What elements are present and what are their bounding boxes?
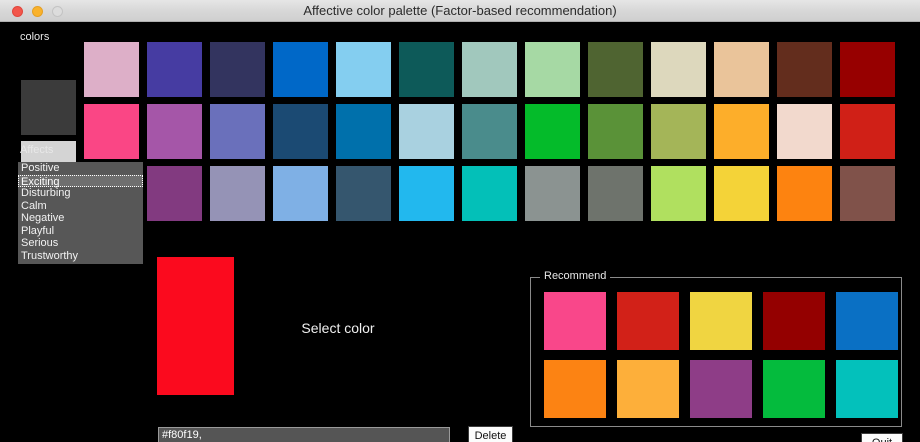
recommend-swatch[interactable] xyxy=(617,360,679,418)
color-swatch[interactable] xyxy=(462,166,517,221)
color-swatch[interactable] xyxy=(588,104,643,159)
affect-item-calm[interactable]: Calm xyxy=(18,200,143,213)
recommend-swatch[interactable] xyxy=(544,292,606,350)
color-swatch[interactable] xyxy=(840,42,895,97)
color-swatch[interactable] xyxy=(210,166,265,221)
color-swatch[interactable] xyxy=(273,104,328,159)
color-swatch[interactable] xyxy=(588,42,643,97)
recommend-swatch[interactable] xyxy=(544,360,606,418)
color-swatch[interactable] xyxy=(651,104,706,159)
color-swatch[interactable] xyxy=(399,104,454,159)
affect-item-positive[interactable]: Positive xyxy=(18,162,143,175)
recommend-swatch[interactable] xyxy=(763,360,825,418)
recommend-swatch[interactable] xyxy=(836,360,898,418)
color-swatch-dark-gray[interactable] xyxy=(21,80,76,135)
color-swatch[interactable] xyxy=(714,166,769,221)
recommend-swatch[interactable] xyxy=(690,292,752,350)
color-swatch[interactable] xyxy=(777,42,832,97)
affect-item-trustworthy[interactable]: Trustworthy xyxy=(18,250,143,263)
color-swatch[interactable] xyxy=(525,166,580,221)
color-swatch[interactable] xyxy=(147,42,202,97)
affect-item-exciting[interactable]: Exciting xyxy=(18,175,143,188)
color-swatch[interactable] xyxy=(399,42,454,97)
color-swatch[interactable] xyxy=(588,166,643,221)
affect-item-playful[interactable]: Playful xyxy=(18,225,143,238)
affect-item-negative[interactable]: Negative xyxy=(18,212,143,225)
color-swatch[interactable] xyxy=(525,104,580,159)
recommend-swatch[interactable] xyxy=(836,292,898,350)
color-swatch[interactable] xyxy=(84,42,139,97)
window-title: Affective color palette (Factor-based re… xyxy=(0,0,920,21)
color-swatch[interactable] xyxy=(147,166,202,221)
affect-item-disturbing[interactable]: Disturbing xyxy=(18,187,143,200)
hex-value-field[interactable]: #f80f19, xyxy=(158,427,450,442)
color-swatch[interactable] xyxy=(462,104,517,159)
color-swatch[interactable] xyxy=(651,42,706,97)
color-swatch[interactable] xyxy=(777,104,832,159)
color-swatch[interactable] xyxy=(210,42,265,97)
selected-color-preview xyxy=(157,257,234,395)
color-swatch[interactable] xyxy=(399,166,454,221)
affect-item-serious[interactable]: Serious xyxy=(18,237,143,250)
window-content: colors Affects PositiveExcitingDisturbin… xyxy=(0,22,920,442)
color-swatch[interactable] xyxy=(840,166,895,221)
delete-button[interactable]: Delete xyxy=(468,426,513,442)
title-bar: Affective color palette (Factor-based re… xyxy=(0,0,920,22)
quit-button[interactable]: Quit xyxy=(861,433,903,442)
recommend-swatch[interactable] xyxy=(763,292,825,350)
color-swatch[interactable] xyxy=(84,104,139,159)
color-swatch[interactable] xyxy=(336,42,391,97)
recommend-swatch[interactable] xyxy=(690,360,752,418)
recommend-swatch[interactable] xyxy=(617,292,679,350)
color-swatch[interactable] xyxy=(273,42,328,97)
select-color-prompt: Select color xyxy=(258,320,418,336)
color-swatch[interactable] xyxy=(147,104,202,159)
color-swatch[interactable] xyxy=(714,104,769,159)
color-swatch[interactable] xyxy=(525,42,580,97)
affects-section-label: Affects xyxy=(20,144,53,156)
color-swatch[interactable] xyxy=(714,42,769,97)
color-swatch[interactable] xyxy=(336,166,391,221)
color-swatch[interactable] xyxy=(840,104,895,159)
color-swatch[interactable] xyxy=(210,104,265,159)
color-swatch[interactable] xyxy=(462,42,517,97)
color-swatch[interactable] xyxy=(273,166,328,221)
app-window: Affective color palette (Factor-based re… xyxy=(0,0,920,442)
color-swatch[interactable] xyxy=(651,166,706,221)
recommend-legend: Recommend xyxy=(540,270,610,282)
color-swatch[interactable] xyxy=(777,166,832,221)
affects-listbox[interactable]: PositiveExcitingDisturbingCalmNegativePl… xyxy=(18,162,143,264)
color-swatch[interactable] xyxy=(336,104,391,159)
colors-section-label: colors xyxy=(20,31,49,43)
